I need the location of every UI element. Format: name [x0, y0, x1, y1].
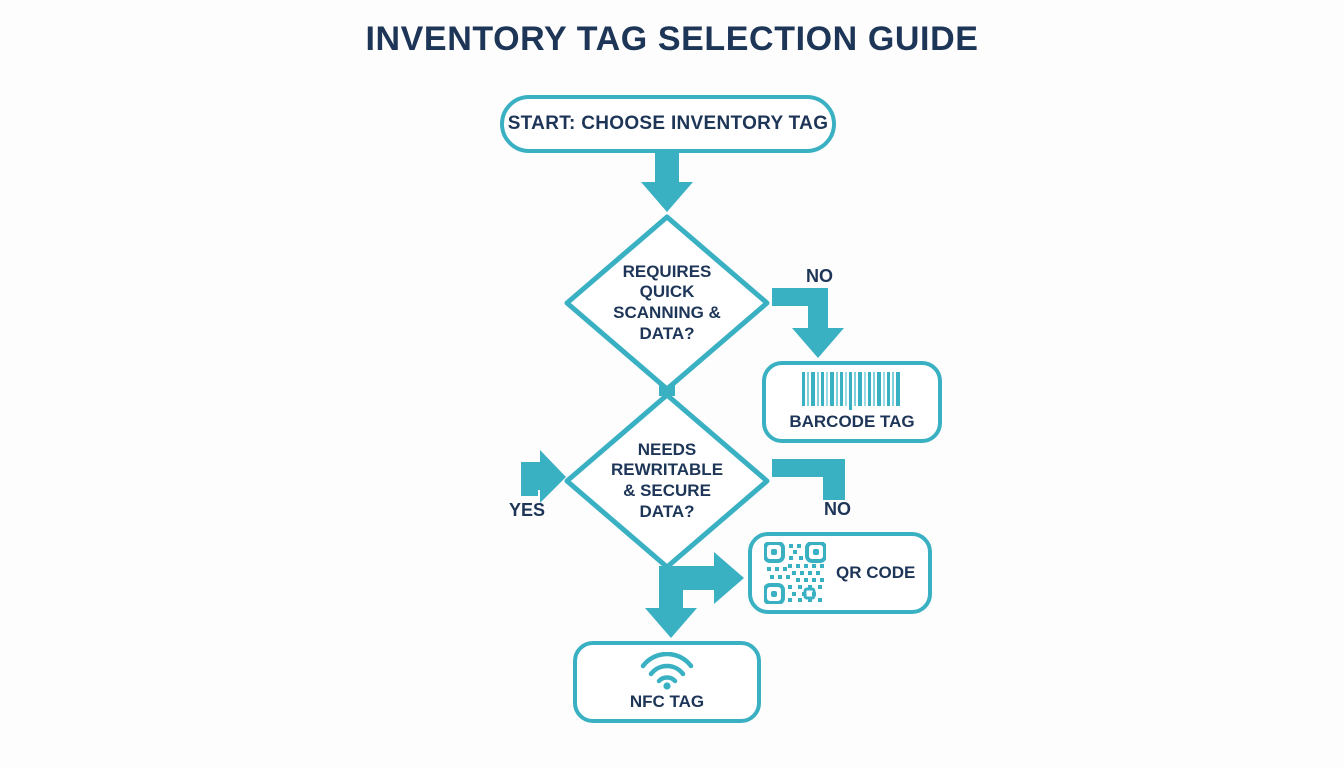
edge-label-no-barcode: NO [806, 266, 833, 287]
decision-1-line-3: SCANNING & [613, 303, 721, 322]
edge-label-yes: YES [509, 500, 545, 521]
node-qr-code[interactable]: QR CODE [748, 532, 932, 614]
node-barcode-tag[interactable]: BARCODE TAG [762, 361, 942, 443]
qr-code-icon [764, 542, 826, 604]
node-nfc-tag[interactable]: NFC TAG [573, 641, 761, 723]
node-decision-rewritable-secure[interactable]: NEEDS REWRITABLE & SECURE DATA? [562, 390, 772, 572]
node-barcode-label: BARCODE TAG [789, 412, 914, 432]
decision-2-line-2: REWRITABLE [611, 460, 723, 479]
node-decision-2-label: NEEDS REWRITABLE & SECURE DATA? [562, 390, 772, 572]
edge-start-to-decision1 [641, 153, 693, 212]
decision-1-line-1: REQUIRES [623, 262, 712, 281]
diagram-canvas: INVENTORY TAG SELECTION GUIDE [0, 0, 1344, 768]
edge-label-no-qr: NO [824, 499, 851, 520]
node-decision-1-label: REQUIRES QUICK SCANNING & DATA? [562, 212, 772, 394]
edge-decision1-no-to-barcode [772, 288, 844, 358]
decision-2-line-4: DATA? [639, 502, 694, 521]
decision-2-line-3: & SECURE [623, 481, 711, 500]
decision-1-line-2: QUICK [640, 282, 695, 301]
node-decision-quick-scanning[interactable]: REQUIRES QUICK SCANNING & DATA? [562, 212, 772, 394]
edge-decision2-no-elbow [772, 459, 845, 500]
edge-yes-into-decision2 [521, 450, 566, 503]
barcode-icon [800, 372, 904, 410]
nfc-signal-icon [639, 652, 695, 690]
node-start-label: START: CHOOSE INVENTORY TAG [508, 113, 829, 135]
node-qr-label: QR CODE [836, 563, 915, 583]
node-nfc-label: NFC TAG [630, 692, 704, 712]
node-start[interactable]: START: CHOOSE INVENTORY TAG [500, 95, 836, 153]
decision-1-line-4: DATA? [639, 324, 694, 343]
decision-2-line-1: NEEDS [638, 440, 697, 459]
